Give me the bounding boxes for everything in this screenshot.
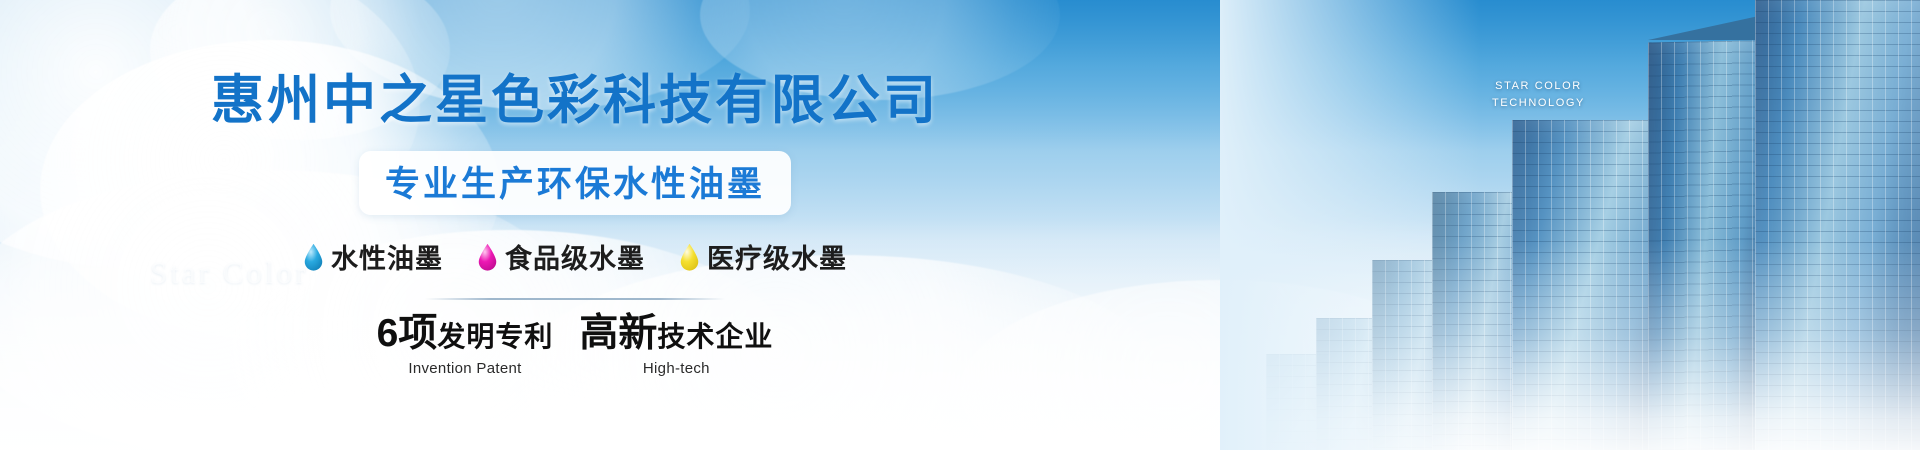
- building-shape: [1648, 40, 1768, 450]
- badge-item: 高新技术企业 High-tech: [579, 314, 773, 377]
- water-drop-icon: [679, 243, 700, 271]
- badge-english: High-tech: [579, 360, 773, 377]
- brandmark: STAR COLOR TECHNOLOGY: [1492, 78, 1585, 112]
- badge-chinese: 6项发明专利: [377, 314, 554, 353]
- badge-list: 6项发明专利 Invention Patent 高新技术企业 High-tech: [377, 314, 774, 377]
- badge-strong-text: 高新: [579, 312, 657, 355]
- skyscraper-illustration: [1220, 0, 1920, 450]
- badge-rest-text: 技术企业: [657, 321, 773, 352]
- building-shape: [1512, 120, 1662, 450]
- banner-content: 惠州中之星色彩科技有限公司 专业生产环保水性油墨: [0, 0, 1150, 450]
- divider: [425, 298, 725, 300]
- badge-item: 6项发明专利 Invention Patent: [377, 314, 554, 377]
- feature-label: 医疗级水墨: [707, 237, 847, 276]
- feature-item: 食品级水墨: [477, 237, 645, 276]
- brandmark-line1: STAR COLOR: [1492, 78, 1585, 95]
- promo-banner: Star Color STAR COLOR TECHNOLOGY 惠州中之星色彩…: [0, 0, 1920, 450]
- feature-item: 医疗级水墨: [679, 237, 847, 276]
- building-shape: [1648, 14, 1768, 40]
- subtitle-pill: 专业生产环保水性油墨: [359, 151, 791, 215]
- building-shape: [1372, 260, 1450, 450]
- brandmark-line2: TECHNOLOGY: [1492, 95, 1585, 112]
- company-name-headline: 惠州中之星色彩科技有限公司: [211, 58, 939, 134]
- building-shape: [1316, 318, 1386, 450]
- water-drop-icon: [303, 243, 324, 271]
- city-left-fade: [1220, 0, 1480, 450]
- badge-english: Invention Patent: [377, 360, 554, 377]
- feature-label: 食品级水墨: [505, 237, 645, 276]
- feature-label: 水性油墨: [331, 237, 443, 276]
- badge-strong-text: 6项: [377, 312, 438, 355]
- building-shape: [1266, 354, 1328, 450]
- badge-chinese: 高新技术企业: [579, 314, 773, 353]
- building-shape: [1432, 192, 1528, 450]
- badge-rest-text: 发明专利: [437, 321, 553, 352]
- feature-list: 水性油墨 食品级水墨: [303, 237, 847, 276]
- city-haze: [1220, 240, 1920, 450]
- water-drop-icon: [477, 243, 498, 271]
- feature-item: 水性油墨: [303, 237, 443, 276]
- subtitle-text: 专业生产环保水性油墨: [385, 165, 765, 204]
- building-shape: [1755, 0, 1920, 450]
